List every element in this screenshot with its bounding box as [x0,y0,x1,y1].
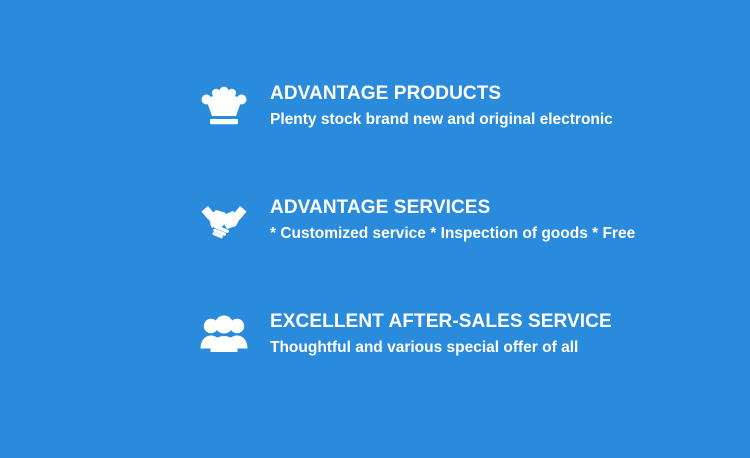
feature-text-block: ADVANTAGE SERVICES * Customized service … [270,195,635,246]
feature-row-advantage-products: ADVANTAGE PRODUCTS Plenty stock brand ne… [196,70,750,142]
people-group-icon [196,306,252,362]
feature-title: EXCELLENT AFTER-SALES SERVICE [270,309,612,334]
feature-title: ADVANTAGE SERVICES [270,195,635,220]
feature-list: ADVANTAGE PRODUCTS Plenty stock brand ne… [0,0,750,458]
handshake-icon [196,192,252,248]
feature-text-block: ADVANTAGE PRODUCTS Plenty stock brand ne… [270,81,613,132]
feature-text-block: EXCELLENT AFTER-SALES SERVICE Thoughtful… [270,309,612,360]
feature-subtitle: Plenty stock brand new and original elec… [270,108,613,132]
crown-icon [196,78,252,134]
advantage-banner: ADVANTAGE PRODUCTS Plenty stock brand ne… [0,0,750,458]
feature-row-after-sales-service: EXCELLENT AFTER-SALES SERVICE Thoughtful… [196,298,750,370]
feature-subtitle: * Customized service * Inspection of goo… [270,222,635,246]
feature-title: ADVANTAGE PRODUCTS [270,81,613,106]
feature-subtitle: Thoughtful and various special offer of … [270,336,612,360]
feature-row-advantage-services: ADVANTAGE SERVICES * Customized service … [196,184,750,256]
